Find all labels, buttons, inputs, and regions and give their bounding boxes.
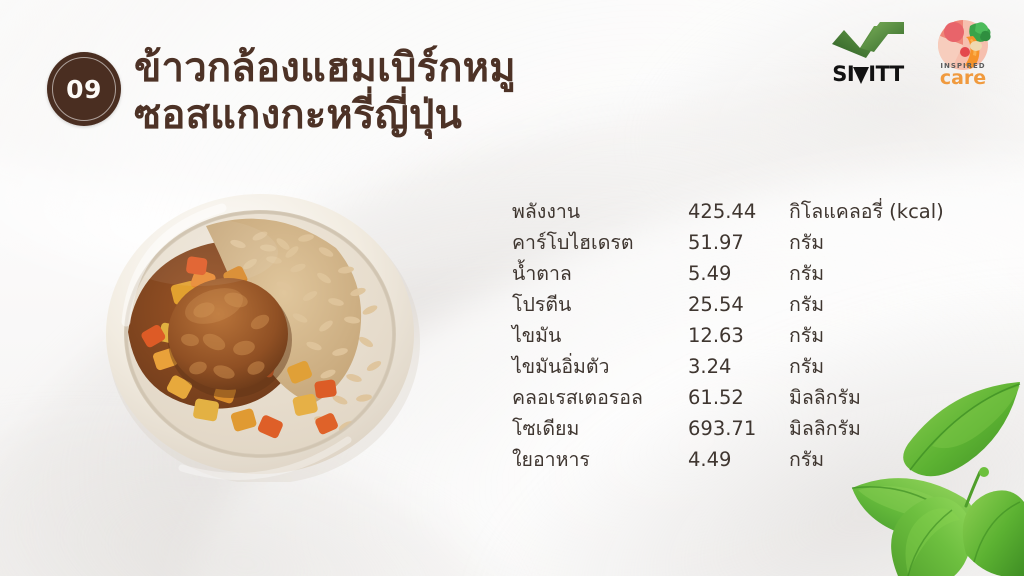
- nutrient-label: คลอเรสเตอรอล: [512, 382, 688, 413]
- nutrient-label: ไขมัน: [512, 320, 688, 351]
- page-title: ข้าวกล้องแฮมเบิร์กหมู ซอสแกงกะหรี่ญี่ปุ่…: [134, 45, 834, 139]
- logo-group: SI ITT INSPIRE: [826, 18, 1002, 88]
- nutrient-label: ไขมันอิ่มตัว: [512, 351, 688, 382]
- sivitt-v-triangle-icon: [853, 67, 869, 84]
- nutrient-value: 51.97: [688, 231, 789, 254]
- nutrient-label: คาร์โบไฮเดรต: [512, 227, 688, 258]
- dish-bowl-illustration: [78, 182, 442, 482]
- sivitt-text-itt: ITT: [868, 64, 903, 85]
- nutrient-unit: กรัม: [789, 227, 824, 258]
- nutrient-unit: กรัม: [789, 320, 824, 351]
- slide: 09 ข้าวกล้องแฮมเบิร์กหมู ซอสแกงกะหรี่ญี่…: [0, 0, 1024, 576]
- nutrient-label: โปรตีน: [512, 289, 688, 320]
- nutrient-unit: กรัม: [789, 258, 824, 289]
- inspired-care-logo: INSPIRED care: [924, 18, 1002, 88]
- table-row: ไขมัน 12.63 กรัม: [512, 320, 944, 351]
- basil-leaf-icon: [834, 376, 1024, 576]
- nutrient-value: 5.49: [688, 262, 789, 285]
- nutrient-value: 425.44: [688, 200, 789, 223]
- nutrient-value: 25.54: [688, 293, 789, 316]
- nutrient-value: 3.24: [688, 355, 789, 378]
- slide-number-badge: 09: [47, 52, 121, 126]
- nutrient-value: 693.71: [688, 417, 789, 440]
- nutrient-value: 12.63: [688, 324, 789, 347]
- sivitt-text-si: SI: [832, 64, 854, 85]
- sivitt-logo: SI ITT: [826, 18, 910, 85]
- nutrient-unit: กิโลแคลอรี่ (kcal): [789, 196, 944, 227]
- basil-leaves-decoration: [834, 376, 1024, 576]
- nutrient-unit: กรัม: [789, 444, 824, 475]
- inspired-care-wordmark: care: [940, 69, 986, 88]
- table-row: น้ำตาล 5.49 กรัม: [512, 258, 944, 289]
- nutrient-unit: กรัม: [789, 289, 824, 320]
- nutrient-value: 61.52: [688, 386, 789, 409]
- page-title-line-1: ข้าวกล้องแฮมเบิร์กหมู: [134, 45, 834, 92]
- nutrient-label: น้ำตาล: [512, 258, 688, 289]
- nutrient-value: 4.49: [688, 448, 789, 471]
- slide-number-label: 09: [66, 75, 102, 104]
- table-row: คาร์โบไฮเดรต 51.97 กรัม: [512, 227, 944, 258]
- nutrient-unit: กรัม: [789, 351, 824, 382]
- sivitt-wordmark: SI ITT: [832, 64, 903, 85]
- page-title-line-2: ซอสแกงกะหรี่ญี่ปุ่น: [134, 92, 834, 139]
- nutrient-label: พลังงาน: [512, 196, 688, 227]
- dish-photo: [78, 182, 442, 482]
- nutrient-label: โซเดียม: [512, 413, 688, 444]
- nutrient-label: ใยอาหาร: [512, 444, 688, 475]
- sivitt-ribbon-icon: [830, 18, 906, 62]
- table-row: พลังงาน 425.44 กิโลแคลอรี่ (kcal): [512, 196, 944, 227]
- table-row: โปรตีน 25.54 กรัม: [512, 289, 944, 320]
